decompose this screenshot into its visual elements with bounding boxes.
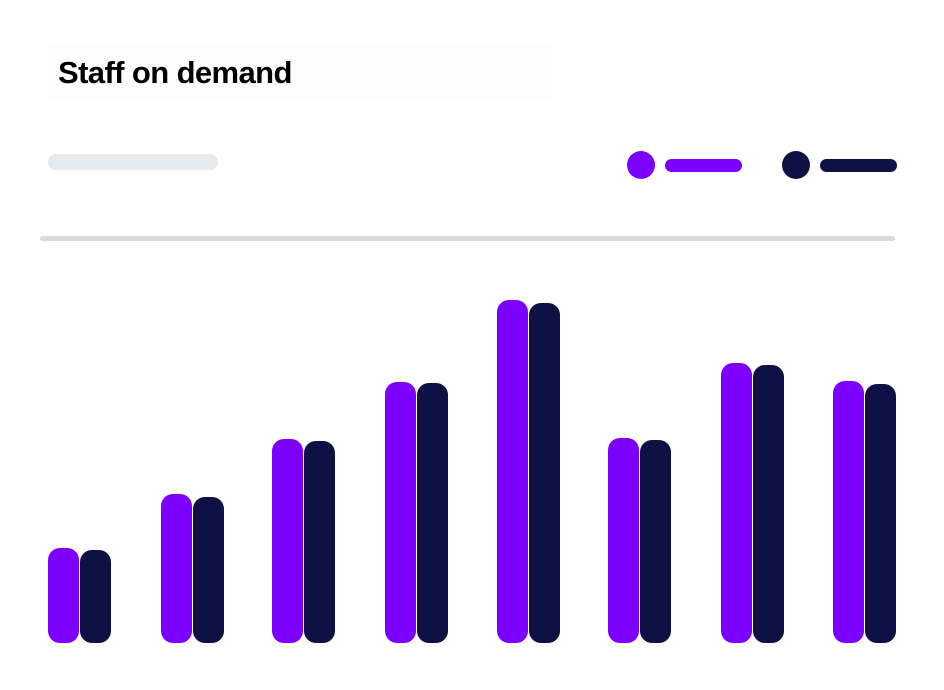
bar-2-series-2[interactable] [193,497,224,643]
bar-6-series-2[interactable] [640,440,671,643]
bar-5-series-1[interactable] [497,300,528,643]
bar-7-series-1[interactable] [721,363,752,643]
bar-4-series-2[interactable] [417,383,448,643]
bar-1-series-2[interactable] [80,550,111,643]
chart-plot-area [0,0,944,690]
bar-2-series-1[interactable] [161,494,192,643]
bar-1-series-1[interactable] [48,548,79,643]
bar-5-series-2[interactable] [529,303,560,643]
staff-on-demand-widget: Staff on demand [0,0,944,690]
bar-7-series-2[interactable] [753,365,784,643]
bar-chart [0,0,944,690]
bar-3-series-1[interactable] [272,439,303,643]
bar-4-series-1[interactable] [385,382,416,643]
bar-8-series-2[interactable] [865,384,896,643]
bar-8-series-1[interactable] [833,381,864,643]
bar-6-series-1[interactable] [608,438,639,643]
bar-3-series-2[interactable] [304,441,335,643]
